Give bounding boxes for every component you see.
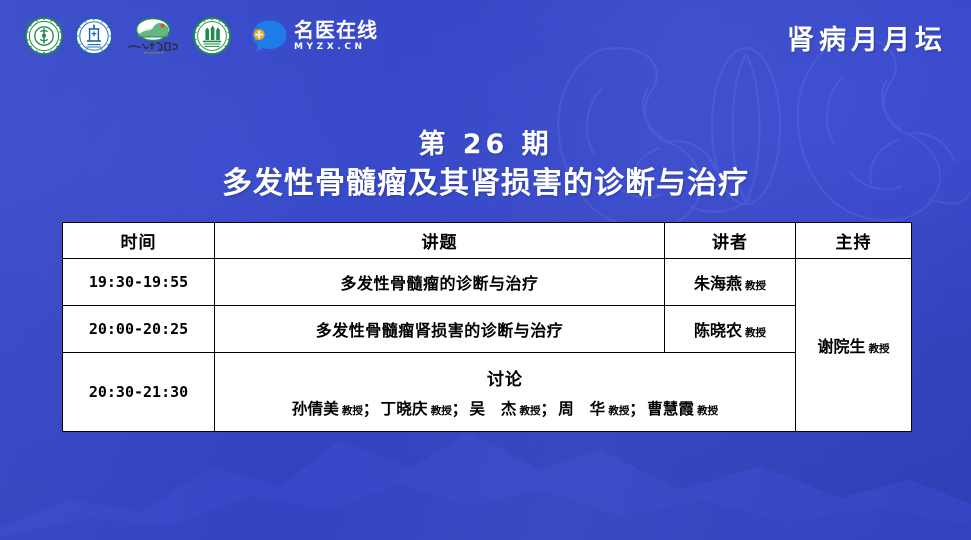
cell-time-1: 19:30-19:55 [63, 259, 215, 306]
discussion-participants: 孙倩美教授；丁晓庆教授；吴 杰教授；周 华教授；曹慧霞教授 [215, 397, 795, 419]
column-header-host: 主持 [796, 223, 912, 259]
speaker-name-1: 朱海燕 [694, 274, 742, 293]
myzx-platform-logo: 名医在线 MYZX.CN [250, 19, 378, 53]
title-block: 第 26 期 多发性骨髓瘤及其肾损害的诊断与治疗 [0, 128, 971, 204]
column-header-speaker: 讲者 [665, 223, 796, 259]
myzx-name-cn: 名医在线 [294, 20, 378, 40]
participant-separator: ； [452, 400, 468, 418]
hospital-seal-blue-icon [74, 16, 114, 56]
speaker-name-2: 陈晓农 [694, 321, 742, 340]
slide-canvas: 名医在线 MYZX.CN 肾病月月坛 第 26 期 多发性骨髓瘤及其肾损害的诊断… [0, 0, 971, 540]
host-name: 谢院生 [817, 337, 865, 356]
yishan-hospital-emblem-icon [124, 16, 182, 56]
series-brand-title: 肾病月月坛 [787, 18, 947, 57]
speaker-title-2: 教授 [745, 327, 766, 339]
cell-topic-2: 多发性骨髓瘤肾损害的诊断与治疗 [215, 306, 665, 353]
myzx-wordmark: 名医在线 MYZX.CN [294, 20, 378, 52]
partner-logo-strip: 名医在线 MYZX.CN [24, 16, 378, 56]
participant-title: 教授 [431, 405, 452, 417]
session-topic-title: 多发性骨髓瘤及其肾损害的诊断与治疗 [0, 164, 971, 204]
myzx-name-en: MYZX.CN [294, 43, 378, 52]
participant-title: 教授 [608, 405, 629, 417]
participant-title: 教授 [697, 405, 718, 417]
participant-separator: ； [629, 400, 645, 418]
cell-host: 谢院生教授 [796, 259, 912, 432]
table-row-discussion: 20:30-21:30 讨论 孙倩美教授；丁晓庆教授；吴 杰教授；周 华教授；曹… [63, 353, 912, 432]
medical-association-seal-icon [24, 16, 64, 56]
cell-speaker-1: 朱海燕教授 [665, 259, 796, 306]
cell-time-discussion: 20:30-21:30 [63, 353, 215, 432]
agenda-table: 时间 讲题 讲者 主持 19:30-19:55 多发性骨髓瘤的诊断与治疗 朱海燕… [62, 222, 912, 432]
participant-title: 教授 [520, 405, 541, 417]
table-header-row: 时间 讲题 讲者 主持 [63, 223, 912, 259]
participant-name: 周 华 [558, 400, 605, 418]
table-row: 20:00-20:25 多发性骨髓瘤肾损害的诊断与治疗 陈晓农教授 [63, 306, 912, 353]
participant-name: 孙倩美 [292, 400, 339, 418]
issue-number: 第 26 期 [0, 128, 971, 162]
column-header-topic: 讲题 [215, 223, 665, 259]
cell-time-2: 20:00-20:25 [63, 306, 215, 353]
host-title: 教授 [869, 343, 890, 355]
university-seal-green-icon [192, 16, 232, 56]
header-bar: 名医在线 MYZX.CN 肾病月月坛 [0, 0, 971, 72]
speaker-title-1: 教授 [745, 280, 766, 292]
cell-speaker-2: 陈晓农教授 [665, 306, 796, 353]
discussion-heading: 讨论 [215, 365, 795, 390]
cell-topic-1: 多发性骨髓瘤的诊断与治疗 [215, 259, 665, 306]
participant-separator: ； [363, 400, 379, 418]
participant-name: 曹慧霞 [647, 400, 694, 418]
myzx-bubble-play-icon [250, 19, 288, 53]
cell-discussion-body: 讨论 孙倩美教授；丁晓庆教授；吴 杰教授；周 华教授；曹慧霞教授 [215, 353, 796, 432]
participant-name: 丁晓庆 [381, 400, 428, 418]
participant-title: 教授 [342, 405, 363, 417]
participant-name: 吴 杰 [469, 400, 516, 418]
column-header-time: 时间 [63, 223, 215, 259]
table-row: 19:30-19:55 多发性骨髓瘤的诊断与治疗 朱海燕教授 谢院生教授 [63, 259, 912, 306]
participant-separator: ； [541, 400, 557, 418]
